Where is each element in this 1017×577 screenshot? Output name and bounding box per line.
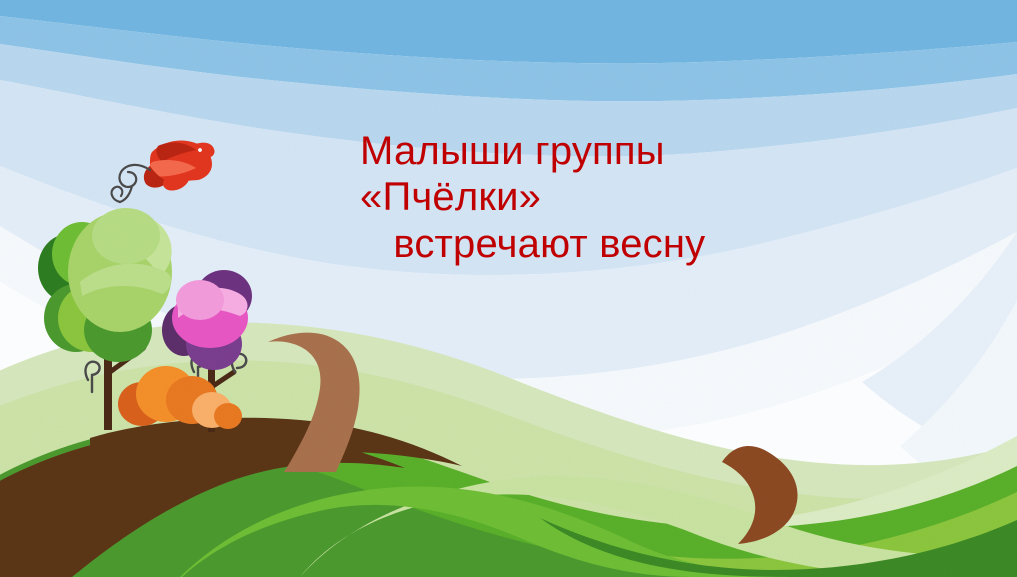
presentation-slide: Малыши группы «Пчёлки» встречают весну	[0, 0, 1017, 577]
bird-eye	[198, 148, 202, 152]
spring-landscape-illustration	[0, 0, 1017, 577]
bush-blob-far-right	[214, 403, 242, 429]
blossom-blob-pink-upper	[176, 280, 224, 320]
green-tree-blob-top-light	[92, 208, 160, 264]
